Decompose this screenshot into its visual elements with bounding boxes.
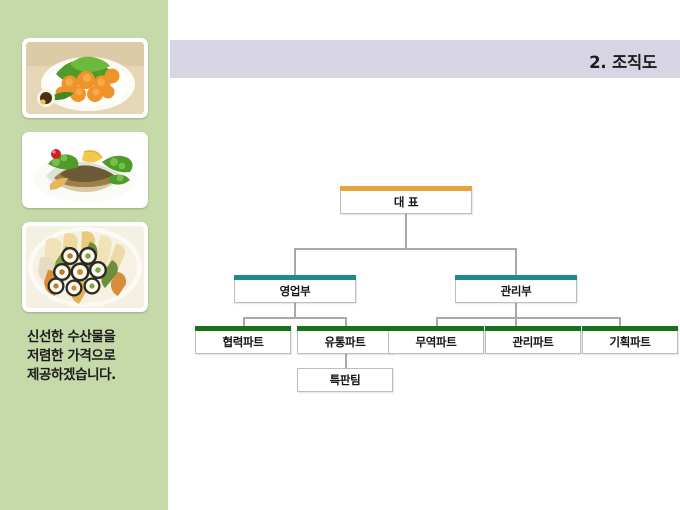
accent-bar-green [195,326,291,331]
org-node-trade-part[interactable]: 무역파트 [388,326,484,354]
org-node-sales-dept[interactable]: 영업부 [234,275,356,303]
sidebar-panel: 신선한 수산물을 저렴한 가격으로 제공하겠습니다. [0,0,168,510]
sidebar-thumbnail-sushi-platter [22,222,148,312]
org-node-distribution-part-label: 유통파트 [324,334,365,350]
connector-to-sales-dept [294,248,296,275]
org-node-ceo[interactable]: 대 표 [340,186,472,214]
org-node-cooperation-part[interactable]: 협력파트 [195,326,291,354]
connector-to-admin-dept [515,248,517,275]
grilled-fish-dish-photo [26,136,144,204]
accent-bar-orange [340,186,472,191]
sidebar-thumbnail-grilled-fish [22,132,148,208]
fried-seafood-platter-photo [26,42,144,114]
grilled-fish-illustration [26,136,144,204]
org-chart: 대 표 영업부 관리부 협력파트 유통파트 무역파트 [168,0,680,510]
sidebar-caption-text: 신선한 수산물을 저렴한 가격으로 제공하겠습니다. [27,328,162,385]
accent-bar-green [485,326,581,331]
fried-seafood-illustration [26,42,144,114]
org-node-special-sales-team-label: 특판팀 [330,372,361,388]
sidebar-thumbnail-fried-seafood [22,38,148,118]
org-node-planning-part[interactable]: 기획파트 [582,326,678,354]
org-node-sales-dept-label: 영업부 [280,283,311,299]
accent-bar-green [582,326,678,331]
connector-sales-stem [294,303,296,318]
org-node-special-sales-team[interactable]: 특판팀 [297,368,393,392]
org-node-management-part[interactable]: 관리파트 [485,326,581,354]
connector-sales-bus [243,317,347,319]
connector-to-cooperation [243,317,245,326]
org-node-admin-dept[interactable]: 관리부 [455,275,577,303]
org-node-trade-part-label: 무역파트 [415,334,456,350]
connector-to-planning [619,317,621,326]
org-node-admin-dept-label: 관리부 [501,283,532,299]
accent-bar-teal [234,275,356,280]
connector-ceo-stem [405,214,407,249]
connector-level1-bus [294,248,517,250]
accent-bar-green [388,326,484,331]
org-node-planning-part-label: 기획파트 [609,334,650,350]
connector-to-special-team [345,354,347,368]
org-node-cooperation-part-label: 협력파트 [222,334,263,350]
org-node-management-part-label: 관리파트 [512,334,553,350]
sushi-platter-illustration [26,226,144,308]
org-node-ceo-label: 대 표 [394,194,418,210]
connector-to-distribution [345,317,347,326]
accent-bar-teal [455,275,577,280]
connector-admin-stem [515,303,517,318]
sushi-roll-platter-photo [26,226,144,308]
slide-canvas: 신선한 수산물을 저렴한 가격으로 제공하겠습니다. 2. 조직도 [0,0,680,510]
content-panel: 2. 조직도 대 표 [168,0,680,510]
connector-to-management [515,317,517,326]
connector-admin-bus [436,317,621,319]
connector-to-trade [436,317,438,326]
accent-bar-green [297,326,393,331]
org-node-distribution-part[interactable]: 유통파트 [297,326,393,354]
